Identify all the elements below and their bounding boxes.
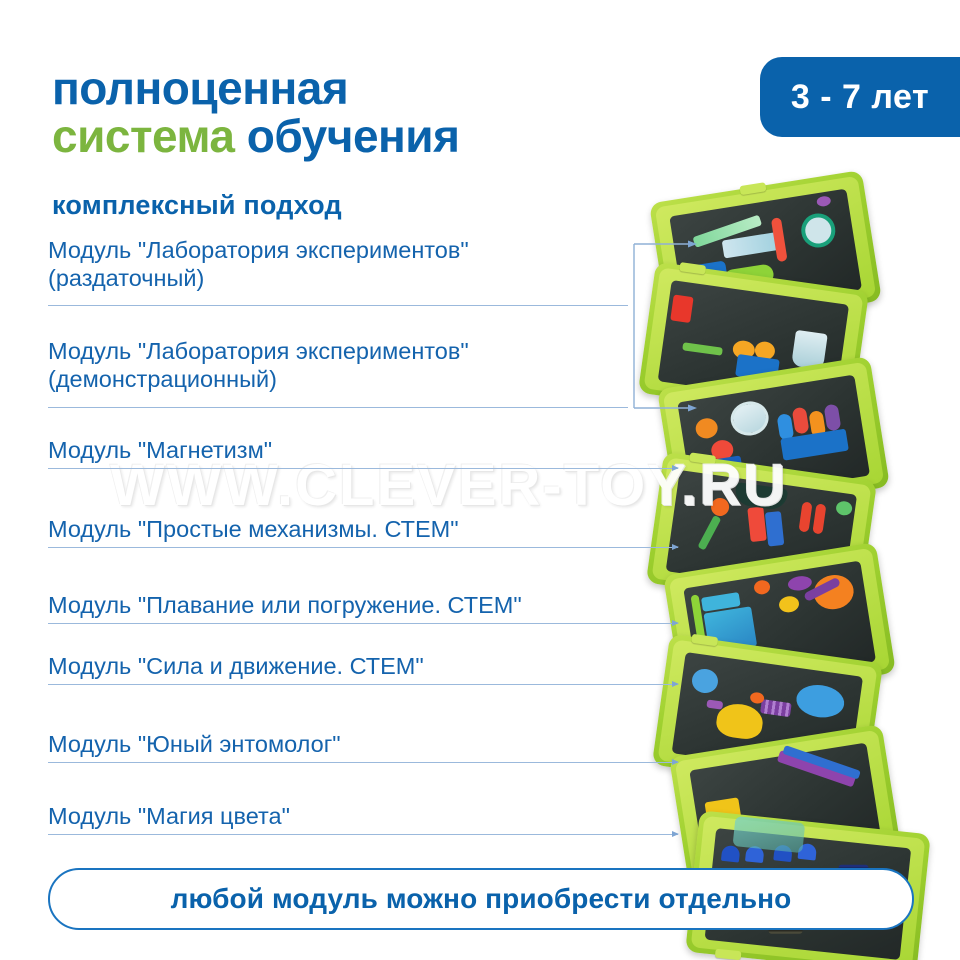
tool-lens bbox=[728, 399, 771, 439]
module-label: Модуль "Юный энтомолог" bbox=[48, 730, 688, 758]
module-label: Модуль "Магия цвета" bbox=[48, 802, 688, 830]
tool-magnet-bar-blue bbox=[765, 511, 784, 546]
module-rule bbox=[48, 547, 678, 548]
bottom-banner: любой модуль можно приобрести отдельно bbox=[48, 868, 914, 930]
tool-tweezers bbox=[771, 217, 788, 262]
tool-blue-bowl bbox=[794, 682, 846, 720]
tool-green-wand bbox=[697, 515, 721, 551]
tool-dark-dish bbox=[734, 482, 789, 511]
tool-mesh-bag bbox=[733, 816, 806, 853]
tool-orange-ball bbox=[753, 579, 771, 595]
module-label: Модуль "Магнетизм" bbox=[48, 436, 688, 464]
tool-orange-bead bbox=[694, 417, 719, 440]
module-label: Модуль "Сила и движение. СТЕМ" bbox=[48, 652, 688, 680]
tool-purple-gear bbox=[787, 575, 813, 593]
module-item[interactable]: Модуль "Магия цвета" bbox=[48, 802, 688, 830]
module-item[interactable]: Модуль "Лаборатория экспериментов" (демо… bbox=[48, 337, 688, 393]
tool-green-stick bbox=[682, 342, 723, 355]
tool-green-bead bbox=[835, 500, 853, 516]
tool-yellow-gear bbox=[778, 595, 800, 614]
tool-red-block bbox=[670, 294, 693, 323]
module-rule bbox=[48, 834, 678, 835]
module-label: Модуль "Лаборатория экспериментов" (демо… bbox=[48, 337, 688, 393]
tool-peg-purple bbox=[824, 404, 842, 432]
tool-magnet-horseshoe bbox=[812, 503, 826, 534]
age-badge: 3 - 7 лет bbox=[760, 57, 960, 137]
module-rule bbox=[48, 468, 678, 469]
tool-blue-ball bbox=[690, 667, 719, 694]
bottom-banner-label: любой модуль можно приобрести отдельно bbox=[171, 883, 792, 915]
tool-purple-spring bbox=[760, 699, 792, 717]
headline-line-1: полноценная bbox=[52, 64, 692, 112]
infographic-page: WWW.CLEVER-TOY.RU 3 - 7 лет полноценная … bbox=[0, 0, 960, 960]
tool-magnifier bbox=[799, 211, 838, 250]
headline-block: полноценная система обучения bbox=[52, 64, 692, 160]
tool-peg-red bbox=[792, 407, 810, 435]
module-rule bbox=[48, 305, 628, 306]
tool-purple-bead bbox=[816, 195, 831, 207]
module-item[interactable]: Модуль "Магнетизм" bbox=[48, 436, 688, 464]
module-label: Модуль "Лаборатория экспериментов" (разд… bbox=[48, 236, 688, 292]
age-badge-label: 3 - 7 лет bbox=[791, 78, 929, 117]
module-item[interactable]: Модуль "Плавание или погружение. СТЕМ" bbox=[48, 591, 688, 619]
headline-word-green: система bbox=[52, 110, 234, 162]
module-rule bbox=[48, 684, 678, 685]
subheadline: комплексный подход bbox=[52, 190, 342, 221]
product-image-stacked-kit-boxes bbox=[640, 180, 960, 880]
module-item[interactable]: Модуль "Сила и движение. СТЕМ" bbox=[48, 652, 688, 680]
module-label: Модуль "Плавание или погружение. СТЕМ" bbox=[48, 591, 688, 619]
headline-line-2: система обучения bbox=[52, 112, 692, 160]
tool-purple-clip bbox=[706, 699, 723, 709]
module-item[interactable]: Модуль "Юный энтомолог" bbox=[48, 730, 688, 758]
tool-magnet-horseshoe bbox=[798, 501, 812, 532]
module-rule bbox=[48, 762, 678, 763]
tool-magnet-bar-red bbox=[747, 507, 766, 542]
module-rule bbox=[48, 623, 678, 624]
module-item[interactable]: Модуль "Лаборатория экспериментов" (разд… bbox=[48, 236, 688, 292]
module-rule bbox=[48, 407, 628, 408]
box-clip bbox=[715, 949, 742, 960]
tool-orange-ball bbox=[710, 497, 730, 517]
module-label: Модуль "Простые механизмы. СТЕМ" bbox=[48, 515, 688, 543]
module-item[interactable]: Модуль "Простые механизмы. СТЕМ" bbox=[48, 515, 688, 543]
headline-word-blue: обучения bbox=[247, 110, 460, 162]
tool-blue-lens-holder bbox=[721, 845, 741, 863]
